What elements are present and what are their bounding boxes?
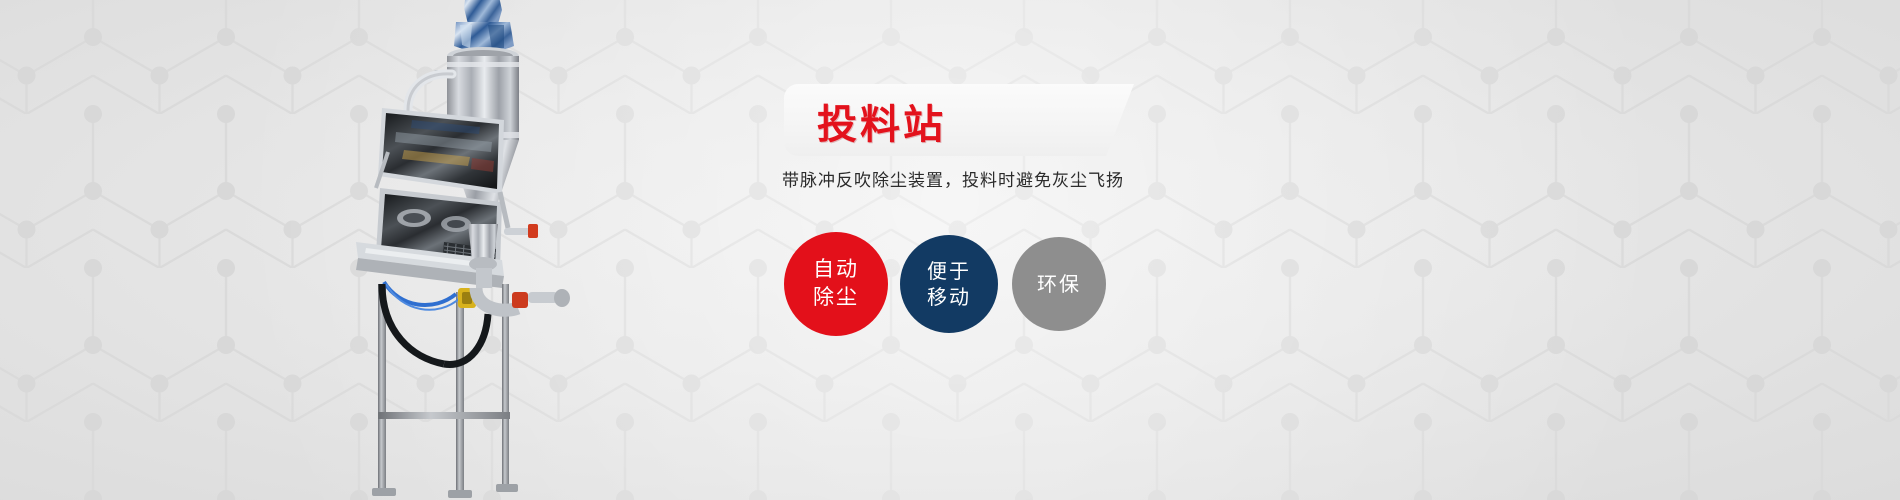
product-image — [352, 0, 620, 500]
feature-badge-line1: 便于 — [927, 258, 971, 284]
subtitle-text: 带脉冲反吹除尘装置，投料时避免灰尘飞扬 — [782, 166, 1124, 191]
feature-badge-line2: 除尘 — [813, 284, 859, 312]
feature-badge-easy-to-move[interactable]: 便于 移动 — [900, 235, 998, 333]
feature-badge-line2: 移动 — [927, 284, 971, 310]
product-banner: 投料站 带脉冲反吹除尘装置，投料时避免灰尘飞扬 自动 除尘 便于 移动 环保 — [0, 0, 1900, 500]
feature-badge-line1: 自动 — [813, 256, 859, 284]
feature-badge-line1: 环保 — [1037, 271, 1081, 297]
banner-content: 投料站 带脉冲反吹除尘装置，投料时避免灰尘飞扬 自动 除尘 便于 移动 环保 — [770, 60, 1470, 460]
feature-badge-environmental[interactable]: 环保 — [1012, 237, 1106, 331]
page-title: 投料站 — [817, 92, 946, 150]
feature-badge-auto-dust-removal[interactable]: 自动 除尘 — [784, 232, 888, 336]
feature-badges: 自动 除尘 便于 移动 环保 — [784, 232, 1106, 336]
